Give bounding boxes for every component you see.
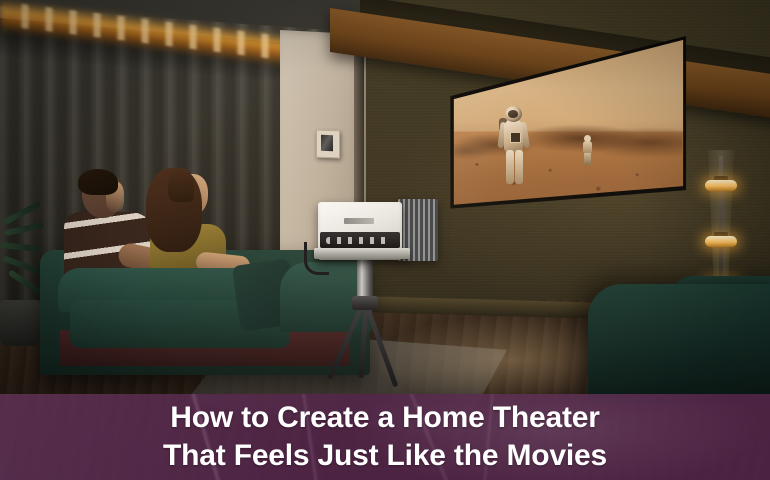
astronaut-foreground bbox=[498, 106, 528, 184]
projector-cable bbox=[304, 242, 329, 275]
projector-lens-array bbox=[326, 237, 392, 244]
man-hair bbox=[78, 169, 118, 195]
astronaut-leg-right bbox=[515, 150, 523, 184]
wall-sconce bbox=[704, 150, 738, 295]
sconce-light-bar bbox=[705, 236, 737, 247]
caption-band: How to Create a Home Theater That Feels … bbox=[0, 394, 770, 480]
framed-picture-art bbox=[321, 135, 333, 151]
astronaut-chest-panel bbox=[510, 132, 521, 143]
astronaut-legs bbox=[584, 153, 591, 165]
plant-frond bbox=[0, 242, 40, 252]
hero-banner: How to Create a Home Theater That Feels … bbox=[0, 0, 770, 480]
sconce-light-bar bbox=[705, 180, 737, 191]
woman-hair-front bbox=[168, 168, 194, 202]
page-title-line-1: How to Create a Home Theater bbox=[170, 400, 600, 436]
astronaut-background bbox=[582, 135, 593, 165]
sofa-right bbox=[588, 284, 770, 404]
plant-frond bbox=[3, 201, 41, 225]
page-title: How to Create a Home Theater That Feels … bbox=[0, 394, 770, 480]
projector bbox=[318, 202, 438, 264]
plant-frond bbox=[4, 222, 44, 236]
plant-pot bbox=[0, 300, 40, 346]
projection-screen bbox=[444, 34, 690, 228]
astronaut-leg-left bbox=[506, 150, 514, 184]
astronaut-visor bbox=[508, 110, 518, 118]
tripod-hub bbox=[352, 296, 378, 310]
page-title-line-2: That Feels Just Like the Movies bbox=[163, 438, 607, 474]
projector-logo bbox=[344, 218, 374, 224]
